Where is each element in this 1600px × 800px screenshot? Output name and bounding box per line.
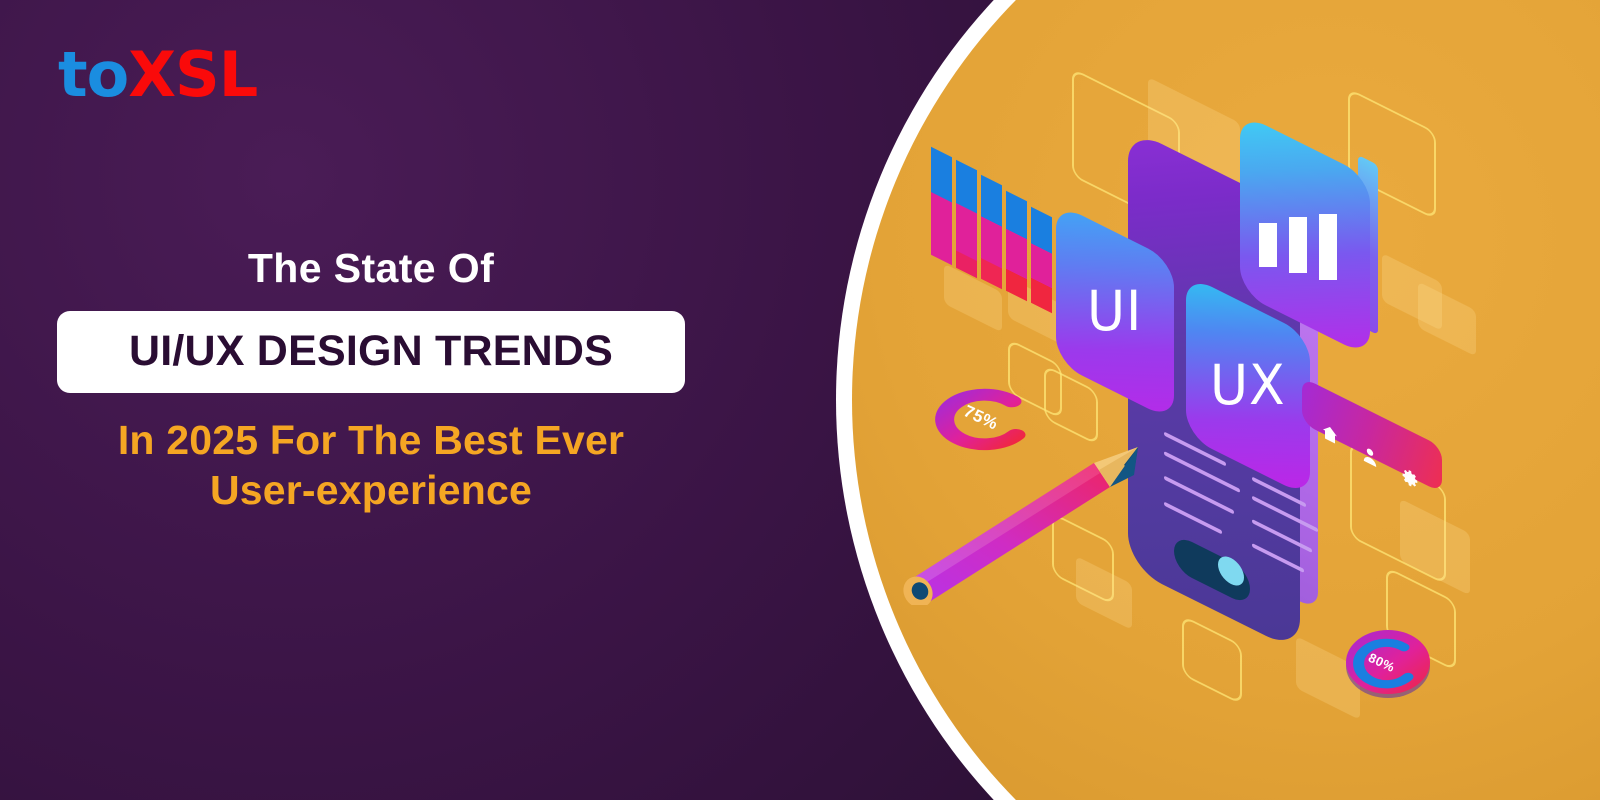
pencil-icon xyxy=(898,425,1158,605)
illustration-circle: UI UX xyxy=(852,0,1600,800)
ui-card-label: UI xyxy=(1087,284,1142,339)
headline-subline-line2: User-experience xyxy=(57,465,685,515)
headline-subline-line1: In 2025 For The Best Ever xyxy=(57,415,685,465)
mini-bar-5 xyxy=(1031,207,1052,313)
headline-pill: UI/UX DESIGN TRENDS xyxy=(57,311,685,393)
mini-bar-1 xyxy=(931,147,952,265)
headline-block: The State Of UI/UX DESIGN TRENDS In 2025… xyxy=(57,245,685,515)
headline-eyebrow: The State Of xyxy=(57,245,685,292)
card-bar-3 xyxy=(1319,214,1337,280)
card-bar-1 xyxy=(1259,223,1277,267)
deco-outline-square-7 xyxy=(1182,615,1242,705)
mini-bar-3 xyxy=(981,175,1002,289)
mini-bar-4 xyxy=(1006,191,1027,301)
illustration-canvas: UI UX xyxy=(852,0,1600,800)
deco-filled-square-5 xyxy=(1418,282,1476,357)
logo-suffix: XSL xyxy=(128,38,257,111)
card-bar-2 xyxy=(1289,217,1307,273)
mini-bar-2 xyxy=(956,160,977,278)
ux-card-label: UX xyxy=(1210,358,1286,413)
promo-banner: UI UX xyxy=(0,0,1600,800)
headline-pill-text: UI/UX DESIGN TRENDS xyxy=(67,330,675,373)
headline-subline: In 2025 For The Best Ever User-experienc… xyxy=(57,415,685,515)
logo-prefix: to xyxy=(58,38,128,111)
logo[interactable]: toXSL xyxy=(58,44,257,106)
